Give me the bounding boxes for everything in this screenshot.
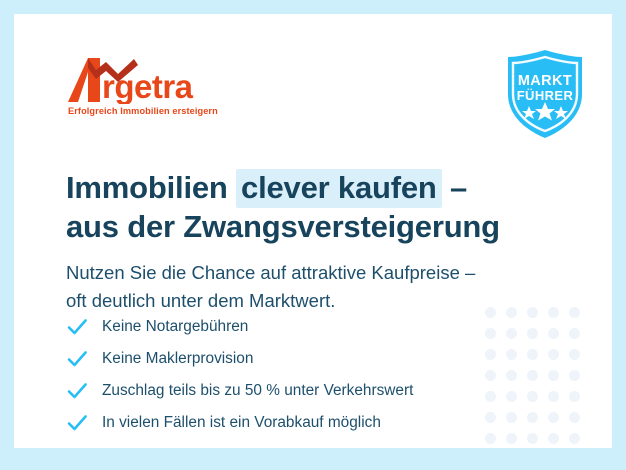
subheadline-line1: Nutzen Sie die Chance auf attraktive Kau…	[66, 262, 475, 283]
argetra-a-roof-icon: rgetra	[66, 56, 216, 104]
page-title: Immobilien clever kaufen – aus der Zwang…	[66, 168, 566, 246]
svg-text:rgetra: rgetra	[102, 68, 194, 104]
logo-tagline: Erfolgreich Immobilien ersteigern	[68, 106, 218, 116]
decorative-dot	[569, 412, 580, 423]
headline-highlight: clever kaufen	[236, 169, 442, 208]
headline-line1: Immobilien clever kaufen –	[66, 169, 467, 208]
badge-line2: FÜHRER	[517, 88, 574, 103]
list-item: In vielen Fällen ist ein Vorabkauf mögli…	[66, 408, 536, 438]
banner-card: rgetra Erfolgreich Immobilien ersteigern…	[14, 14, 612, 448]
decorative-dot	[548, 328, 559, 339]
decorative-dot	[569, 349, 580, 360]
badge-line1: MARKT	[518, 73, 572, 89]
argetra-logo: rgetra Erfolgreich Immobilien ersteigern	[66, 56, 216, 120]
subheadline: Nutzen Sie die Chance auf attraktive Kau…	[66, 259, 576, 315]
check-icon	[66, 348, 88, 370]
headline-suffix: –	[442, 170, 467, 205]
decorative-dot	[569, 433, 580, 444]
decorative-dot	[548, 433, 559, 444]
list-item-label: Keine Maklerprovision	[102, 350, 253, 368]
list-item: Keine Maklerprovision	[66, 344, 536, 374]
benefits-checklist: Keine Notargebühren Keine Maklerprovisio…	[66, 312, 536, 440]
check-icon	[66, 412, 88, 434]
headline-line2: aus der Zwangsversteigerung	[66, 209, 500, 244]
decorative-dot	[569, 370, 580, 381]
list-item: Keine Notargebühren	[66, 312, 536, 342]
subheadline-line2: oft deutlich unter dem Marktwert.	[66, 290, 335, 311]
list-item: Zuschlag teils bis zu 50 % unter Verkehr…	[66, 376, 536, 406]
headline-prefix: Immobilien	[66, 170, 236, 205]
check-icon	[66, 316, 88, 338]
list-item-label: Zuschlag teils bis zu 50 % unter Verkehr…	[102, 382, 413, 400]
decorative-dot	[548, 370, 559, 381]
check-icon	[66, 380, 88, 402]
decorative-dot	[548, 349, 559, 360]
decorative-dot	[548, 412, 559, 423]
marktfuehrer-badge: MARKT FÜHRER	[502, 48, 588, 140]
list-item-label: Keine Notargebühren	[102, 318, 248, 336]
decorative-dot	[548, 391, 559, 402]
list-item-label: In vielen Fällen ist ein Vorabkauf mögli…	[102, 414, 381, 432]
decorative-dot	[569, 391, 580, 402]
promo-banner: rgetra Erfolgreich Immobilien ersteigern…	[0, 0, 626, 470]
decorative-dot	[569, 328, 580, 339]
